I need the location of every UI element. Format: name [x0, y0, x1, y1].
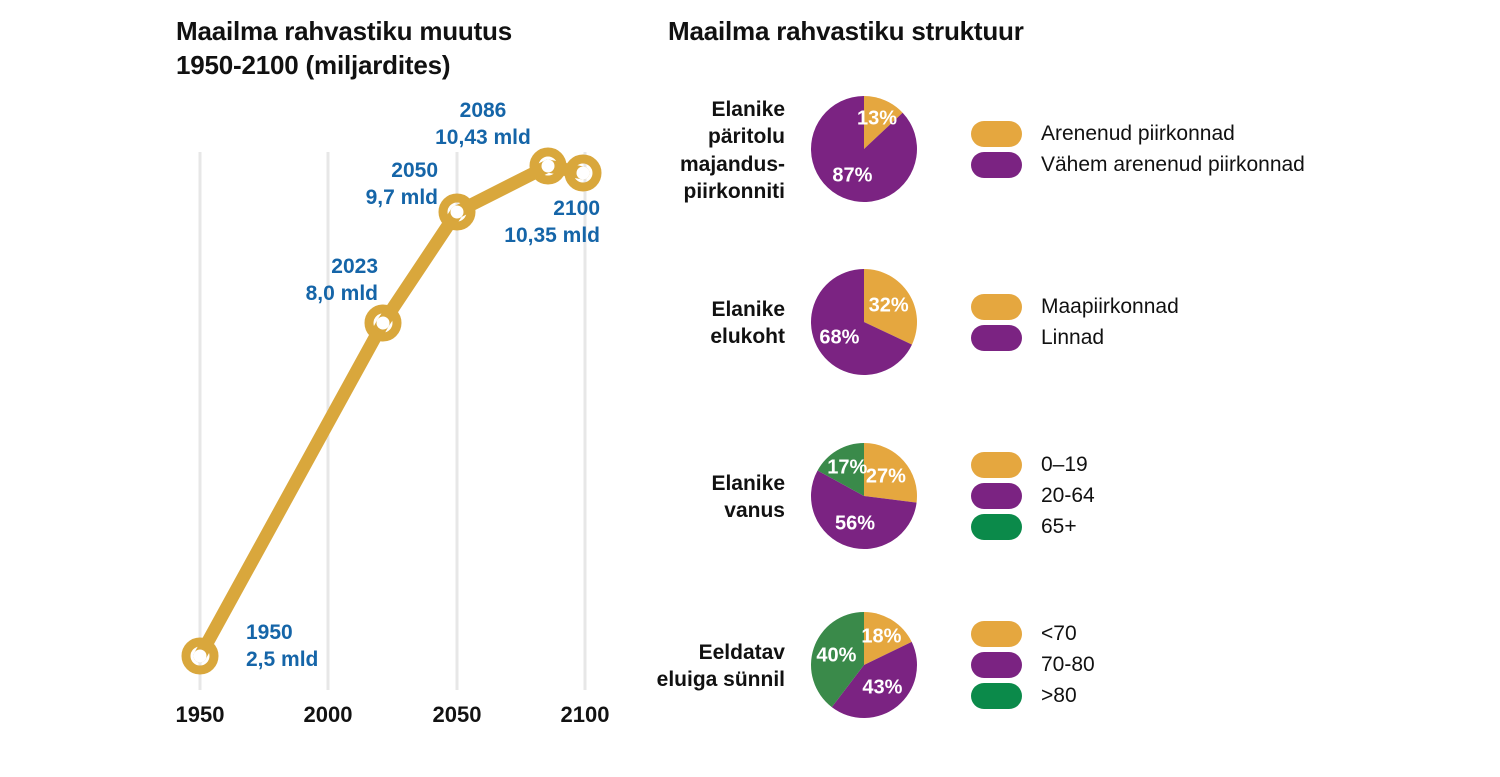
- legend-label: <70: [1041, 622, 1077, 646]
- data-label-2050: 2050 9,7 mld: [268, 158, 438, 211]
- legend-item[interactable]: 20-64: [971, 481, 1095, 512]
- pie-legend: <7070-80>80: [971, 619, 1095, 712]
- pie-row-label: Elanike vanus: [555, 470, 785, 525]
- pie-charts-title: Maailma rahvastiku struktuur: [668, 14, 1188, 48]
- pie-slice: [864, 443, 917, 503]
- legend-swatch-icon: [971, 652, 1022, 678]
- legend-item[interactable]: 0–19: [971, 450, 1095, 481]
- pie-graphic: [805, 437, 923, 555]
- pie-charts-panel: Maailma rahvastiku struktuur Elanike pär…: [660, 0, 1500, 777]
- legend-swatch-icon: [971, 325, 1022, 351]
- legend-label: Maapiirkonnad: [1041, 295, 1179, 319]
- pie-graphic: [805, 606, 923, 724]
- legend-label: Arenenud piirkonnad: [1041, 122, 1235, 146]
- legend-item[interactable]: >80: [971, 681, 1095, 712]
- data-label-2086: 2086 10,43 mld: [404, 98, 562, 151]
- legend-item[interactable]: Vähem arenenud piirkonnad: [971, 149, 1305, 180]
- pie-chart: 13%87%: [805, 90, 923, 208]
- legend-label: >80: [1041, 684, 1077, 708]
- legend-label: 0–19: [1041, 453, 1088, 477]
- legend-item[interactable]: 70-80: [971, 650, 1095, 681]
- pie-legend: Arenenud piirkonnadVähem arenenud piirko…: [971, 118, 1305, 180]
- pie-row-label: Elanike päritolu majandus- piirkonniti: [555, 96, 785, 205]
- pie-row-label: Elanike elukoht: [555, 296, 785, 351]
- legend-label: 20-64: [1041, 484, 1095, 508]
- pie-graphic: [805, 263, 923, 381]
- legend-swatch-icon: [971, 683, 1022, 709]
- legend-label: 65+: [1041, 515, 1077, 539]
- data-label-1950: 1950 2,5 mld: [246, 620, 318, 673]
- legend-label: 70-80: [1041, 653, 1095, 677]
- legend-item[interactable]: Arenenud piirkonnad: [971, 118, 1305, 149]
- x-axis-tick-2100: 2100: [530, 702, 640, 728]
- data-label-2023: 2023 8,0 mld: [208, 254, 378, 307]
- x-axis-tick-2050: 2050: [402, 702, 512, 728]
- legend-item[interactable]: Maapiirkonnad: [971, 291, 1179, 322]
- pie-chart: 18%43%40%: [805, 606, 923, 724]
- pie-legend: 0–1920-6465+: [971, 450, 1095, 543]
- x-axis-tick-2000: 2000: [273, 702, 383, 728]
- legend-label: Vähem arenenud piirkonnad: [1041, 153, 1305, 177]
- legend-item[interactable]: <70: [971, 619, 1095, 650]
- pie-chart: 27%56%17%: [805, 437, 923, 555]
- legend-swatch-icon: [971, 483, 1022, 509]
- x-axis-tick-1950: 1950: [145, 702, 255, 728]
- pie-chart: 32%68%: [805, 263, 923, 381]
- legend-swatch-icon: [971, 294, 1022, 320]
- legend-swatch-icon: [971, 152, 1022, 178]
- legend-swatch-icon: [971, 514, 1022, 540]
- legend-label: Linnad: [1041, 326, 1104, 350]
- pie-graphic: [805, 90, 923, 208]
- legend-item[interactable]: Linnad: [971, 322, 1179, 353]
- pie-legend: MaapiirkonnadLinnad: [971, 291, 1179, 353]
- legend-swatch-icon: [971, 121, 1022, 147]
- legend-swatch-icon: [971, 452, 1022, 478]
- legend-item[interactable]: 65+: [971, 512, 1095, 543]
- legend-swatch-icon: [971, 621, 1022, 647]
- pie-row-label: Eeldatav eluiga sünnil: [555, 639, 785, 694]
